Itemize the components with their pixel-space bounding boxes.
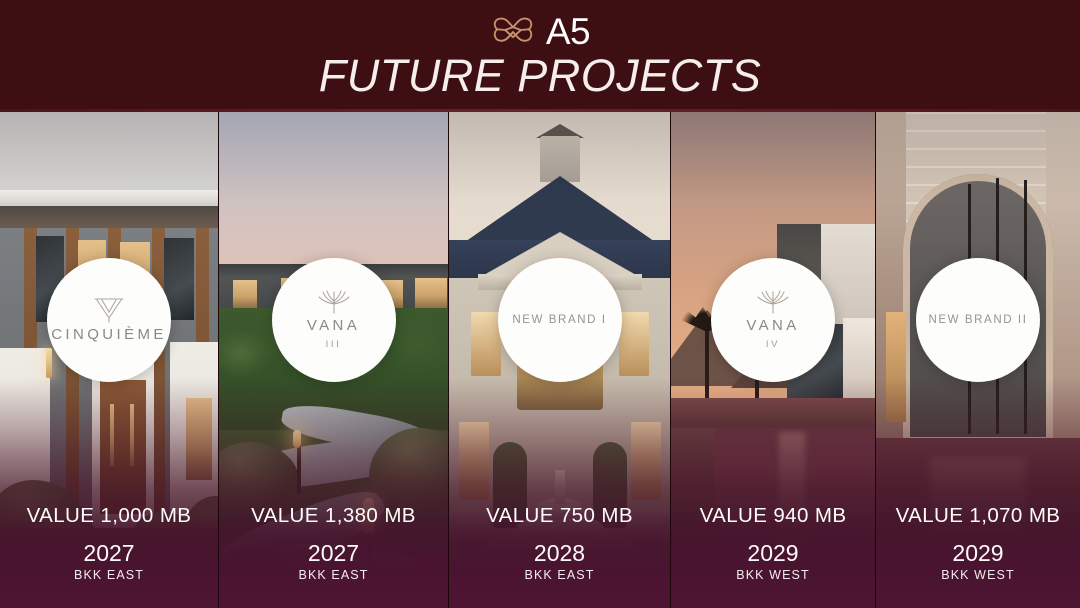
slide-header: A5 FUTURE PROJECTS xyxy=(0,0,1080,112)
project-location: BKK WEST xyxy=(876,568,1080,582)
badge-label: NEW BRAND I xyxy=(512,314,606,326)
presentation-slide: A5 FUTURE PROJECTS xyxy=(0,0,1080,608)
project-year: 2027 xyxy=(219,540,448,567)
page-title: FUTURE PROJECTS xyxy=(0,50,1080,102)
fern-leaf-emblem-icon xyxy=(753,290,793,314)
project-year: 2029 xyxy=(876,540,1080,567)
project-location: BKK EAST xyxy=(449,568,670,582)
project-badge-new-brand-i[interactable]: NEW BRAND I xyxy=(498,258,622,382)
project-value: VALUE 1,000 MB xyxy=(0,504,218,528)
project-value: VALUE 940 MB xyxy=(671,504,875,528)
project-value: VALUE 1,070 MB xyxy=(876,504,1080,528)
project-year: 2028 xyxy=(449,540,670,567)
project-panel-cinquieme[interactable]: CINQUIÈME VALUE 1,000 MB 2027 BKK EAST xyxy=(0,112,218,608)
fern-leaf-emblem-icon xyxy=(314,290,354,314)
badge-sublabel: IV xyxy=(766,339,780,350)
project-badge-new-brand-ii[interactable]: NEW BRAND II xyxy=(916,258,1040,382)
project-value: VALUE 1,380 MB xyxy=(219,504,448,528)
project-location: BKK EAST xyxy=(219,568,448,582)
project-year: 2027 xyxy=(0,540,218,567)
badge-label: NEW BRAND II xyxy=(928,314,1027,326)
chalice-crown-emblem-icon xyxy=(92,297,126,323)
project-caption-new-brand-ii: VALUE 1,070 MB 2029 BKK WEST xyxy=(876,504,1080,582)
project-badge-vana-iii[interactable]: VANA III xyxy=(272,258,396,382)
brand-lockup: A5 xyxy=(0,6,1080,54)
project-value: VALUE 750 MB xyxy=(449,504,670,528)
project-panel-row: CINQUIÈME VALUE 1,000 MB 2027 BKK EAST xyxy=(0,112,1080,608)
project-caption-vana-iv: VALUE 940 MB 2029 BKK WEST xyxy=(671,504,875,582)
project-location: BKK WEST xyxy=(671,568,875,582)
project-badge-cinquieme[interactable]: CINQUIÈME xyxy=(47,258,171,382)
project-caption-vana-iii: VALUE 1,380 MB 2027 BKK EAST xyxy=(219,504,448,582)
project-year: 2029 xyxy=(671,540,875,567)
badge-label: VANA xyxy=(307,317,360,334)
project-panel-vana-iii[interactable]: VANA III VALUE 1,380 MB 2027 BKK EAST xyxy=(218,112,448,608)
badge-label: VANA xyxy=(746,317,799,334)
project-badge-vana-iv[interactable]: VANA IV xyxy=(711,258,835,382)
project-panel-new-brand-ii[interactable]: NEW BRAND II VALUE 1,070 MB 2029 BKK WES… xyxy=(875,112,1080,608)
project-panel-new-brand-i[interactable]: NEW BRAND I VALUE 750 MB 2028 BKK EAST xyxy=(448,112,670,608)
project-location: BKK EAST xyxy=(0,568,218,582)
project-panel-vana-iv[interactable]: VANA IV VALUE 940 MB 2029 BKK WEST xyxy=(670,112,875,608)
badge-sublabel: III xyxy=(326,339,342,350)
project-caption-new-brand-i: VALUE 750 MB 2028 BKK EAST xyxy=(449,504,670,582)
brandmark-text: A5 xyxy=(546,13,590,50)
project-caption-cinquieme: VALUE 1,000 MB 2027 BKK EAST xyxy=(0,504,218,582)
badge-label: CINQUIÈME xyxy=(51,326,167,343)
interlaced-knot-logo-icon xyxy=(490,8,536,52)
